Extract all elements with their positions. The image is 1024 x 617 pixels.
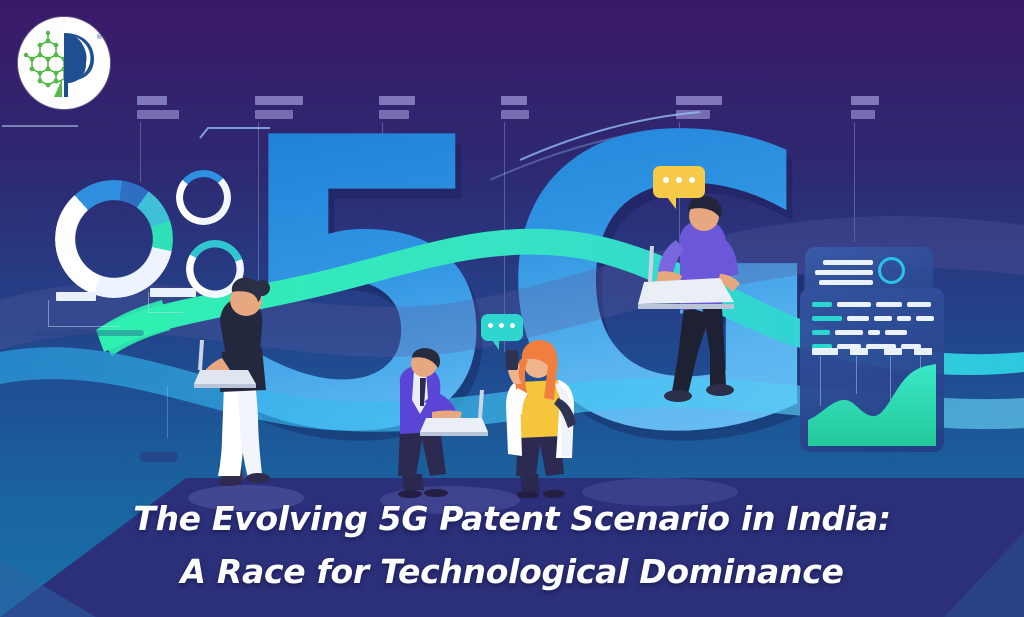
- axis-cap: [914, 348, 932, 355]
- page-title: The Evolving 5G Patent Scenario in India…: [0, 492, 1024, 598]
- row-cell: [897, 316, 911, 321]
- row-cell: [868, 330, 880, 335]
- row-cell: [885, 330, 907, 335]
- axis-cap: [884, 348, 902, 355]
- row-cell: [876, 302, 902, 307]
- primary-donut-chart: [55, 180, 173, 298]
- row-cell: [847, 316, 869, 321]
- man-in-blazer-with-laptop: [370, 348, 490, 498]
- brand-logo[interactable]: ®: [18, 17, 110, 109]
- panel-chip: [140, 452, 178, 462]
- panel-divider: [34, 330, 144, 336]
- panel-tick-line: [167, 386, 168, 438]
- banner-root: 5G 5G: [0, 0, 1024, 617]
- axis-cap: [850, 348, 868, 355]
- woman-with-laptop: [178, 266, 298, 486]
- row-accent-bar: [812, 330, 830, 335]
- area-chart: [808, 358, 936, 446]
- row-cell: [835, 330, 863, 335]
- donut-label-bar: [56, 292, 96, 301]
- speech-bubble-teal: [481, 314, 523, 341]
- title-line-1: The Evolving 5G Patent Scenario in India…: [0, 492, 1024, 545]
- logo-mark: ®: [18, 17, 110, 109]
- ring-icon: [878, 257, 905, 284]
- donut-leader-line: [48, 300, 121, 327]
- row-accent-bar: [812, 316, 842, 321]
- row-cell: [874, 316, 892, 321]
- title-line-2: A Race for Technological Dominance: [0, 545, 1024, 598]
- registered-mark: ®: [96, 33, 103, 41]
- summary-text-line: [819, 280, 873, 285]
- ring-chart-upper: [176, 170, 231, 225]
- speech-bubble-yellow: [653, 166, 705, 198]
- summary-text-line: [823, 260, 873, 265]
- row-cell: [837, 302, 871, 307]
- area-chart-fill: [808, 364, 936, 446]
- seated-man-with-laptop: [624, 186, 764, 406]
- woman-in-lab-coat-with-phone: [492, 336, 602, 498]
- axis-cap: [812, 348, 838, 355]
- summary-text-line: [815, 270, 873, 275]
- row-cell: [916, 316, 934, 321]
- row-accent-bar: [812, 302, 832, 307]
- row-cell: [907, 302, 931, 307]
